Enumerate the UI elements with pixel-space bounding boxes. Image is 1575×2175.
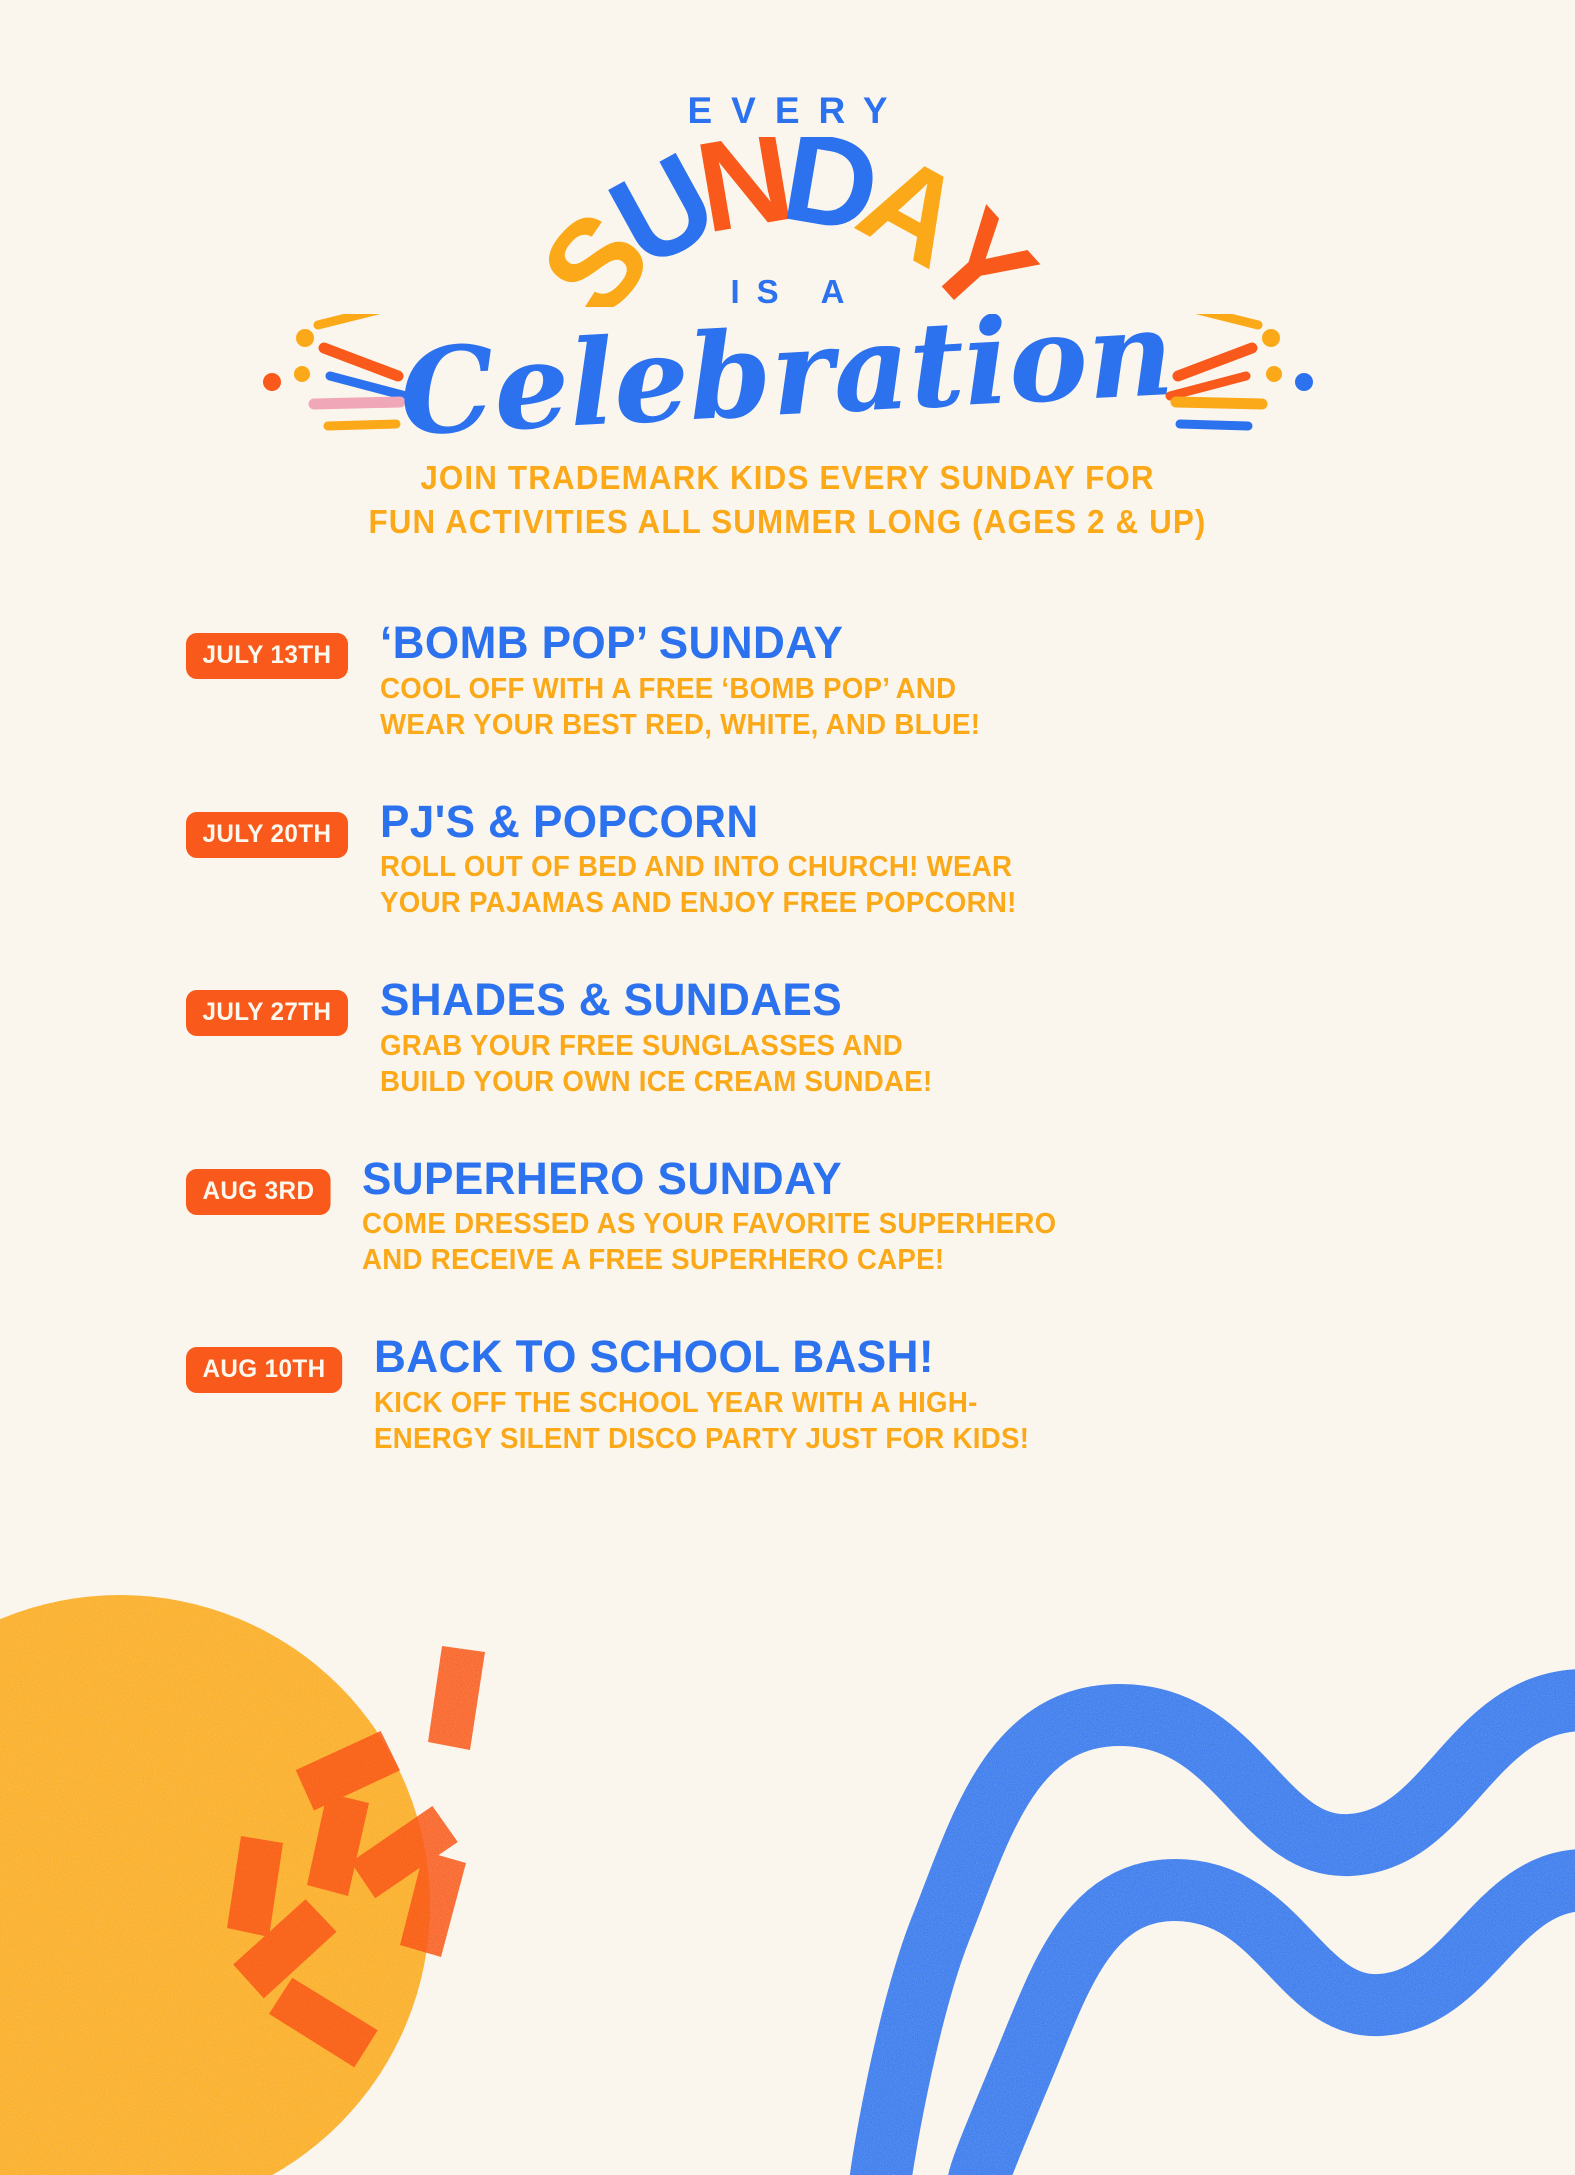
event-title: SHADES & SUNDAES [380,976,938,1024]
date-badge: JULY 13TH [186,633,348,679]
event-title: ‘BOMB POP’ SUNDAY [380,619,986,667]
event-description: GRAB YOUR FREE SUNGLASSES AND BUILD YOUR… [380,1029,933,1101]
event-description: COOL OFF WITH A FREE ‘BOMB POP’ AND WEAR… [380,672,980,744]
event-title: BACK TO SCHOOL BASH! [374,1333,1036,1381]
event-description: COME DRESSED AS YOUR FAVORITE SUPERHERO … [362,1207,1056,1279]
schedule-row-body: SHADES & SUNDAES GRAB YOUR FREE SUNGLASS… [380,976,950,1101]
confetti-burst-right [1170,314,1313,426]
script-word-text: Celebration [396,314,1176,439]
schedule-row-body: BACK TO SCHOOL BASH! KICK OFF THE SCHOOL… [374,1333,1050,1458]
date-badge: AUG 10TH [186,1347,342,1393]
amber-sun-circle [0,1595,430,2175]
schedule-row-body: ‘BOMB POP’ SUNDAY COOL OFF WITH A FREE ‘… [380,619,999,744]
date-badge: AUG 3RD [186,1169,331,1215]
schedule-row-body: PJ'S & POPCORN ROLL OUT OF BED AND INTO … [380,798,1036,923]
orange-sun-ray-dashes [224,1646,485,2070]
schedule-row-2[interactable]: JULY 20TH PJ'S & POPCORN ROLL OUT OF BED… [186,798,1455,923]
date-badge: JULY 20TH [186,812,348,858]
schedule-list: JULY 13TH ‘BOMB POP’ SUNDAY COOL OFF WIT… [0,619,1575,1458]
confetti-burst-left [263,314,406,426]
event-title: SUPERHERO SUNDAY [362,1155,1064,1203]
poster-header: EVERY SUNDAY IS A [0,0,1575,543]
schedule-row-3[interactable]: JULY 27TH SHADES & SUNDAES GRAB YOUR FRE… [186,976,1455,1101]
connector-text: IS A [0,275,1575,308]
event-title: PJ'S & POPCORN [380,798,1023,846]
blue-double-wave [880,1700,1575,2175]
event-description: KICK OFF THE SCHOOL YEAR WITH A HIGH- EN… [374,1386,1029,1458]
subtitle-text: JOIN TRADEMARK KIDS EVERY SUNDAY FOR FUN… [39,456,1535,543]
schedule-row-1[interactable]: JULY 13TH ‘BOMB POP’ SUNDAY COOL OFF WIT… [186,619,1455,744]
eyebrow-text: EVERY [0,92,1575,129]
celebration-script-wordmark: Celebration [0,314,1575,432]
schedule-row-body: SUPERHERO SUNDAY COME DRESSED AS YOUR FA… [362,1155,1078,1280]
schedule-row-4[interactable]: AUG 3RD SUPERHERO SUNDAY COME DRESSED AS… [186,1155,1455,1280]
poster-canvas: EVERY SUNDAY IS A [0,0,1575,2175]
event-description: ROLL OUT OF BED AND INTO CHURCH! WEAR YO… [380,850,1017,922]
date-badge: JULY 27TH [186,990,348,1036]
schedule-row-5[interactable]: AUG 10TH BACK TO SCHOOL BASH! KICK OFF T… [186,1333,1455,1458]
